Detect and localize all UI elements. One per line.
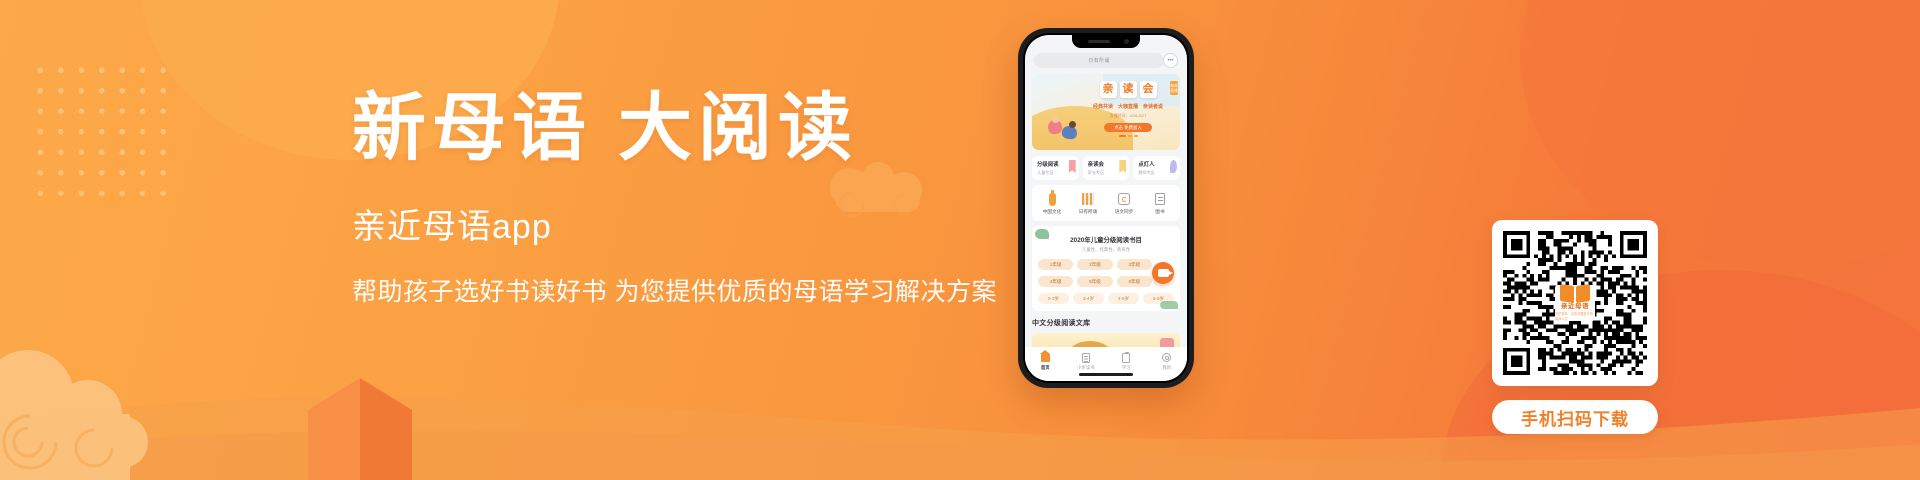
decorative-dot-grid xyxy=(30,60,180,210)
book-stack-icon xyxy=(1082,193,1094,205)
qr-download-block: 亲近母语 守护童年 · 点亮中国孩子的阅读人生 手机扫码下载 xyxy=(1492,220,1658,434)
age-chips-row: 0-3岁 3-4岁 4-5岁 5-6岁 xyxy=(1038,293,1174,304)
zone-card-title: 分级阅读 xyxy=(1037,160,1074,168)
hero-title: 亲 读 会 xyxy=(1080,81,1176,98)
hero-subtitles: 经典共读 大咖直播 亲读者说 xyxy=(1080,103,1176,110)
headline-right: 大阅读 xyxy=(618,88,858,170)
decorative-cube xyxy=(300,360,420,480)
more-dots-icon[interactable]: ••• xyxy=(1163,53,1178,68)
headline-block: 新母语大阅读 亲近母语app 帮助孩子选好书读好书 为您提供优质的母语学习解决方… xyxy=(352,92,1072,305)
download-button[interactable]: 手机扫码下载 xyxy=(1492,400,1658,434)
booklist-subtitle: 儿童性、经典性、教育性 xyxy=(1038,247,1174,253)
decorative-cloud-bottom-left xyxy=(0,318,240,480)
library-section-title: 中文分级阅读文库 xyxy=(1032,318,1180,328)
app-name: 亲近母语app xyxy=(352,210,1072,244)
zone-card-parents[interactable]: 亲读会 家长专区 xyxy=(1083,156,1130,180)
clipboard-icon xyxy=(1122,353,1130,363)
zone-card-kids[interactable]: 分级阅读 儿童专区 xyxy=(1032,156,1079,180)
birds-icon: ··· ·· xyxy=(1044,86,1068,92)
zone-card-teachers[interactable]: 点灯人 教师专区 xyxy=(1133,156,1180,180)
hero-sub: 亲读者说 xyxy=(1143,103,1163,110)
zone-card-title: 亲读会 xyxy=(1088,160,1125,168)
hero-child-right-head xyxy=(1069,121,1076,128)
pager-dot[interactable] xyxy=(1119,135,1126,137)
grade-booklist-card: 2020年儿童分级阅读书目 儿童性、经典性、教育性 1年级 2年级 3年级 4年… xyxy=(1032,226,1180,311)
front-camera-icon xyxy=(1124,39,1129,44)
phone-screen: 日有所诵 ••• ··· ·· 亲 xyxy=(1025,35,1187,381)
tagline: 帮助孩子选好书读好书 为您提供优质的母语学习解决方案 xyxy=(352,280,1072,305)
zone-card-sub: 家长专区 xyxy=(1088,170,1125,176)
shortcut-label: 图书 xyxy=(1142,209,1178,215)
hero-title-char: 会 xyxy=(1140,81,1157,98)
search-input[interactable]: 日有所诵 ••• xyxy=(1034,53,1164,68)
hero-title-char: 读 xyxy=(1120,81,1137,98)
booklist-title: 2020年儿童分级阅读书目 xyxy=(1038,235,1174,244)
home-indicator xyxy=(1079,373,1133,376)
shortcut-recite[interactable]: 日有所诵 xyxy=(1070,192,1106,215)
shortcut-sync[interactable]: 语文同步 xyxy=(1106,192,1142,215)
open-book-icon xyxy=(1560,285,1590,298)
tab-reading[interactable]: 小步读书 xyxy=(1066,352,1107,371)
qr-center-logo: 亲近母语 守护童年 · 点亮中国孩子的阅读人生 xyxy=(1555,285,1595,321)
app-content: 日有所诵 ••• ··· ·· 亲 xyxy=(1025,35,1187,381)
vase-icon xyxy=(1049,193,1056,206)
grade-chip[interactable]: 6年级 xyxy=(1117,276,1152,287)
pager-dot[interactable] xyxy=(1128,135,1132,137)
shortcut-label: 语文同步 xyxy=(1106,209,1142,215)
pager-dot[interactable] xyxy=(1134,135,1138,137)
phone-notch xyxy=(1072,35,1140,48)
hero-banner[interactable]: ··· ·· 亲 读 会 每周直播 xyxy=(1032,74,1180,150)
shortcut-culture[interactable]: 中国文化 xyxy=(1034,192,1070,215)
grade-chip[interactable]: 2年级 xyxy=(1077,259,1112,270)
hero-title-char: 亲 xyxy=(1100,81,1117,98)
headline-left: 新母语 xyxy=(352,88,592,170)
tab-profile[interactable]: 我的 xyxy=(1147,352,1188,371)
tab-label: 学习 xyxy=(1106,365,1147,371)
speaker-grille xyxy=(1088,40,1110,43)
phone-bezel: 日有所诵 ••• ··· ·· 亲 xyxy=(1023,33,1189,383)
book-icon xyxy=(1155,193,1165,205)
notebook-icon xyxy=(1082,353,1090,363)
tab-label: 小步读书 xyxy=(1066,365,1107,371)
age-chip[interactable]: 4-5岁 xyxy=(1108,293,1139,304)
qr-code: 亲近母语 守护童年 · 点亮中国孩子的阅读人生 xyxy=(1492,220,1658,386)
promo-banner: 新母语大阅读 亲近母语app 帮助孩子选好书读好书 为您提供优质的母语学习解决方… xyxy=(0,0,1920,480)
sync-icon xyxy=(1118,193,1130,205)
shortcut-label: 中国文化 xyxy=(1034,209,1070,215)
hero-date: 直播时间：4/16-5/27 xyxy=(1080,113,1176,119)
category-shortcuts: 中国文化 日有所诵 语文同步 图书 xyxy=(1032,185,1180,221)
bookmark-icon xyxy=(1170,160,1177,173)
tab-home[interactable]: 首页 xyxy=(1025,352,1066,371)
leaf-decoration-icon xyxy=(1160,301,1178,309)
grade-chip[interactable]: 4年级 xyxy=(1038,276,1073,287)
hero-text-group: 亲 读 会 每周直播 经典共读 大咖直播 亲读者说 直播时间：4/16-5/27 xyxy=(1080,81,1176,137)
shortcut-books[interactable]: 图书 xyxy=(1142,192,1178,215)
home-icon xyxy=(1041,353,1050,362)
zone-cards: 分级阅读 儿童专区 亲读会 家长专区 点灯人 教师专区 xyxy=(1032,156,1180,180)
grade-chip[interactable]: 3年级 xyxy=(1117,259,1152,270)
grade-chip[interactable]: 5年级 xyxy=(1077,276,1112,287)
video-play-icon[interactable] xyxy=(1152,262,1174,284)
user-icon xyxy=(1162,353,1171,362)
hero-child-left-head xyxy=(1052,116,1059,123)
grade-chip[interactable]: 1年级 xyxy=(1038,259,1073,270)
tab-label: 我的 xyxy=(1147,365,1188,371)
hero-badge: 每周直播 xyxy=(1170,81,1178,95)
hero-join-button[interactable]: 点击 免费加入 xyxy=(1104,123,1152,132)
page-title: 新母语大阅读 xyxy=(352,92,1072,166)
tab-study[interactable]: 学习 xyxy=(1106,352,1147,371)
tab-label: 首页 xyxy=(1025,365,1066,371)
hero-pagination[interactable] xyxy=(1080,135,1176,137)
qr-logo-slogan: 守护童年 · 点亮中国孩子的阅读人生 xyxy=(1555,311,1595,321)
zone-card-sub: 儿童专区 xyxy=(1037,170,1074,176)
hero-sub: 经典共读 xyxy=(1093,103,1113,110)
age-chip[interactable]: 3-4岁 xyxy=(1073,293,1104,304)
leaf-decoration-icon xyxy=(1035,229,1049,239)
phone-mockup: 日有所诵 ••• ··· ·· 亲 xyxy=(1018,28,1194,388)
hero-sub: 大咖直播 xyxy=(1118,103,1138,110)
download-button-label: 手机扫码下载 xyxy=(1521,405,1629,430)
age-chip[interactable]: 0-3岁 xyxy=(1038,293,1069,304)
search-placeholder: 日有所诵 xyxy=(1088,57,1109,64)
shortcut-label: 日有所诵 xyxy=(1070,209,1106,215)
